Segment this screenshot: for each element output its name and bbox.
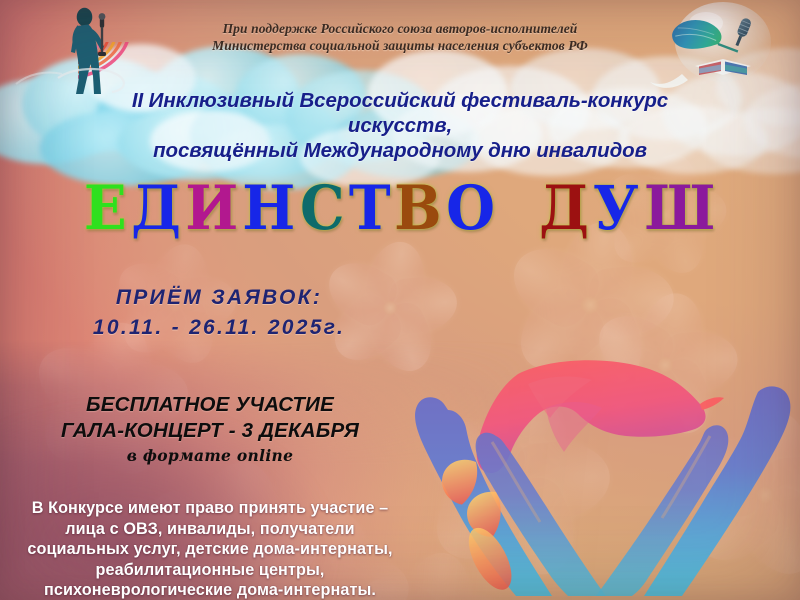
title-letter: У bbox=[593, 176, 639, 242]
title-letter: С bbox=[300, 176, 345, 242]
festival-heading: II Инклюзивный Всероссийский фестиваль-к… bbox=[0, 88, 800, 163]
title-letter: Т bbox=[348, 176, 390, 242]
eligibility-line-4: реабилитационные центры, bbox=[0, 560, 420, 581]
title-letter: И bbox=[185, 176, 238, 242]
title-letter: Д bbox=[131, 176, 181, 242]
free-participation-block: БЕСПЛАТНОЕ УЧАСТИЕ ГАЛА-КОНЦЕРТ - 3 ДЕКА… bbox=[20, 392, 400, 468]
poster-canvas: При поддержке Российского союза авторов-… bbox=[0, 0, 800, 600]
support-credit-text: При поддержке Российского союза авторов-… bbox=[0, 20, 800, 54]
eligibility-text: В Конкурсе имеют право принять участие –… bbox=[0, 498, 420, 600]
support-line-2: Министерства социальной защиты населения… bbox=[0, 37, 800, 54]
title-letter: О bbox=[446, 176, 495, 242]
support-line-1: При поддержке Российского союза авторов-… bbox=[0, 20, 800, 37]
title-letter: Д bbox=[539, 176, 589, 242]
title-letter: Е bbox=[84, 176, 127, 242]
festival-line-3: посвящённый Международному дню инвалидов bbox=[0, 138, 800, 163]
festival-line-1: II Инклюзивный Всероссийский фестиваль-к… bbox=[0, 88, 800, 113]
title-letter: В bbox=[394, 176, 441, 242]
eligibility-line-5: психоневрологические дома-интернаты. bbox=[0, 580, 420, 600]
online-format-note: в формате online bbox=[20, 444, 400, 468]
application-dates-block: ПРИЁМ ЗАЯВОК: 10.11. - 26.11. 2025г. bbox=[24, 283, 414, 343]
eligibility-line-3: социальных услуг, детские дома-интернаты… bbox=[0, 539, 420, 560]
title-letter: Н bbox=[243, 176, 296, 242]
gala-concert-date: ГАЛА-КОНЦЕРТ - 3 ДЕКАБРЯ bbox=[20, 418, 400, 444]
dates-range: 10.11. - 26.11. 2025г. bbox=[24, 313, 414, 343]
eligibility-line-1: В Конкурсе имеют право принять участие – bbox=[0, 498, 420, 519]
main-title-edinstvo-dush: ЕДИНСТВОДУШ bbox=[0, 176, 800, 242]
eligibility-line-2: лица с ОВЗ, инвалиды, получатели bbox=[0, 519, 420, 540]
title-letter: Ш bbox=[644, 176, 715, 242]
dates-label: ПРИЁМ ЗАЯВОК: bbox=[24, 283, 414, 313]
free-participation-label: БЕСПЛАТНОЕ УЧАСТИЕ bbox=[20, 392, 400, 418]
festival-line-2: искусств, bbox=[0, 113, 800, 138]
